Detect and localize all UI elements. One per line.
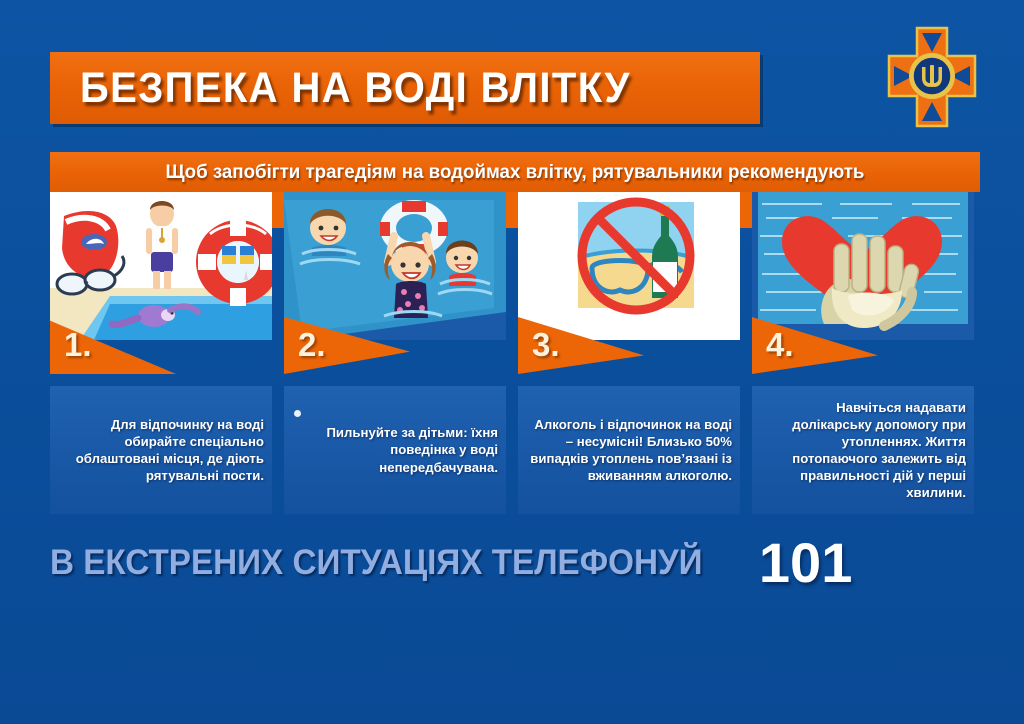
poster-root: БЕЗПЕКА НА ВОДІ ВЛІТКУ Щоб запобігти тра… <box>0 0 1024 724</box>
card-text-panel-2: Пильнуйте за дітьми: їхня поведінка у во… <box>284 386 506 514</box>
emergency-number: 101 <box>759 535 852 591</box>
poster-title-bar: БЕЗПЕКА НА ВОДІ ВЛІТКУ <box>50 52 760 124</box>
card-text: Навчіться надавати долікарську допомогу … <box>752 399 974 501</box>
card-4: 4. Навчіться надавати долікарську допомо… <box>752 192 974 514</box>
card-number-wedge-3: 3. <box>518 312 644 374</box>
card-number-wedge-1: 1. <box>50 312 176 374</box>
card-1: 1. Для відпочинку на воді обирайте спеці… <box>50 192 272 514</box>
card-top-strip <box>272 192 284 228</box>
card-number: 3. <box>532 326 560 364</box>
card-text-panel-3: Алкоголь і відпочинок на воді – несумісн… <box>518 386 740 514</box>
emergency-banner: В ЕКСТРЕНИХ СИТУАЦІЯХ ТЕЛЕФОНУЙ 101 <box>50 534 980 592</box>
recommendation-cards: 1. Для відпочинку на воді обирайте спеці… <box>50 192 980 514</box>
card-2: 2. Пильнуйте за дітьми: їхня поведінка у… <box>284 192 506 514</box>
page-title: БЕЗПЕКА НА ВОДІ ВЛІТКУ <box>80 64 631 113</box>
card-number: 1. <box>64 326 92 364</box>
poster-subtitle-bar: Щоб запобігти трагедіям на водоймах вліт… <box>50 152 980 192</box>
card-top-strip <box>740 192 752 228</box>
card-text: Алкоголь і відпочинок на воді – несумісн… <box>518 416 740 484</box>
dsns-ukraine-emblem <box>880 22 984 134</box>
card-text-panel-4: Навчіться надавати долікарську допомогу … <box>752 386 974 514</box>
card-text: Для відпочинку на воді обирайте спеціаль… <box>50 416 272 484</box>
card-number-wedge-4: 4. <box>752 312 878 374</box>
bullet-dot <box>294 410 301 417</box>
card-text: Пильнуйте за дітьми: їхня поведінка у во… <box>284 424 506 475</box>
card-text-panel-1: Для відпочинку на воді обирайте спеціаль… <box>50 386 272 514</box>
card-number: 4. <box>766 326 794 364</box>
card-top-strip <box>506 192 518 228</box>
poster-subtitle: Щоб запобігти трагедіям на водоймах вліт… <box>166 161 865 184</box>
card-number: 2. <box>298 326 326 364</box>
card-3: 3. Алкоголь і відпочинок на воді – несум… <box>518 192 740 514</box>
emergency-call-text: В ЕКСТРЕНИХ СИТУАЦІЯХ ТЕЛЕФОНУЙ <box>50 543 703 583</box>
card-number-wedge-2: 2. <box>284 312 410 374</box>
